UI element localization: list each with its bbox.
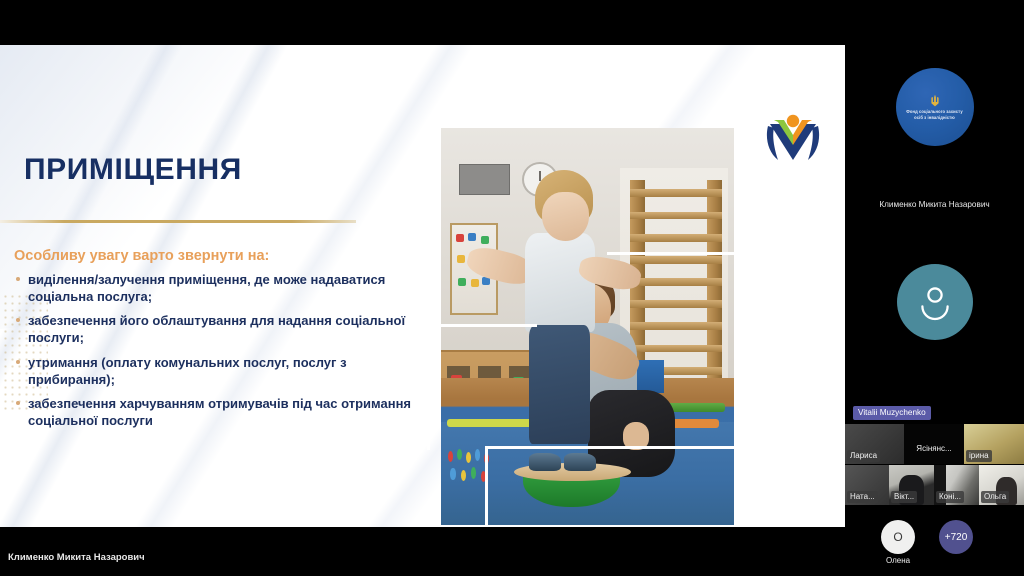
thumbnail-larysa[interactable]: Лариса bbox=[845, 424, 904, 464]
thumbnail-olha[interactable]: Ольга bbox=[979, 465, 1024, 505]
thumbnail-row-1: Лариса Ясінянс... ірина bbox=[845, 424, 1024, 464]
collage-frame-line-left-h bbox=[427, 324, 537, 327]
org-avatar-text-line2: осіб з інвалідністю bbox=[899, 115, 971, 121]
participants-sidebar[interactable]: Фонд соціального захисту осіб з інвалідн… bbox=[845, 0, 1024, 576]
photo-child-shoe-right bbox=[564, 453, 596, 471]
photo-child-shirt bbox=[525, 233, 595, 332]
collage-frame-line-bottom-h bbox=[485, 446, 737, 449]
slide-bullet-list: виділення/залучення приміщення, де може … bbox=[14, 271, 414, 436]
photo-abacus-toy bbox=[444, 442, 508, 494]
slide-title: ПРИМІЩЕННЯ bbox=[24, 153, 242, 187]
list-item: утримання (оплату комунальних послуг, по… bbox=[14, 354, 414, 388]
more-participants-badge[interactable]: +720 bbox=[939, 520, 973, 554]
thumbnail-label: Вікт... bbox=[891, 491, 917, 503]
photo-child-shoe-left bbox=[529, 453, 561, 471]
more-participants-count: +720 bbox=[945, 532, 968, 543]
participant-tile-klymenko[interactable]: Фонд соціального захисту осіб з інвалідн… bbox=[845, 40, 1024, 220]
thumbnail-label: Коні... bbox=[936, 491, 964, 503]
thumbnail-nata[interactable]: Ната... bbox=[845, 465, 889, 505]
photo-vent bbox=[459, 164, 511, 196]
avatar-olena[interactable]: О bbox=[881, 520, 915, 554]
thumbnail-label: Ясінянс... bbox=[913, 443, 954, 455]
thumbnail-yasinyans[interactable]: Ясінянс... bbox=[904, 424, 964, 464]
thumbnail-koni[interactable]: Коні... bbox=[934, 465, 979, 505]
presentation-slide: ПРИМІЩЕННЯ Особливу увагу варто звернути… bbox=[0, 45, 845, 527]
photo-child-face bbox=[542, 192, 589, 242]
thumbnail-vikt[interactable]: Вікт... bbox=[889, 465, 934, 505]
overflow-participants-row: О Олена +720 bbox=[845, 512, 1024, 576]
participant-tile-vitalii[interactable]: Vitalii Muzychenko bbox=[845, 248, 1024, 408]
trident-icon bbox=[930, 94, 940, 107]
collage-frame-line-bottom-v bbox=[485, 446, 488, 526]
thumbnail-iryna[interactable]: ірина bbox=[964, 424, 1024, 464]
video-conference-window: ПРИМІЩЕННЯ Особливу увагу варто звернути… bbox=[0, 0, 1024, 576]
avatar-olena-name: Олена bbox=[875, 556, 921, 565]
participant-thumbnail-grid[interactable]: Лариса Ясінянс... ірина Ната... Вікт... bbox=[845, 424, 1024, 505]
participant-name-klymenko: Клименко Микита Назарович bbox=[845, 200, 1024, 209]
thumbnail-label: Лариса bbox=[847, 450, 880, 462]
thumbnail-label: Ната... bbox=[847, 491, 878, 503]
fund-logo bbox=[760, 108, 826, 174]
presenter-name-overlay: Клименко Микита Назарович bbox=[8, 552, 145, 563]
photo-child-pants bbox=[529, 325, 591, 444]
avatar-initial: О bbox=[893, 530, 902, 544]
collage-frame-line-left-v bbox=[427, 324, 430, 450]
person-silhouette-icon bbox=[897, 264, 973, 340]
list-item: забезпечення харчуванням отримувачів під… bbox=[14, 395, 414, 429]
list-item: виділення/залучення приміщення, де може … bbox=[14, 271, 414, 305]
thumbnail-label: Ольга bbox=[981, 491, 1009, 503]
thumbnail-row-2: Ната... Вікт... Коні... Ольга bbox=[845, 465, 1024, 505]
slide-lead-text: Особливу увагу варто звернути на: bbox=[14, 248, 269, 264]
collage-frame-line-right-v bbox=[734, 252, 737, 508]
participant-name-badge-vitalii: Vitalii Muzychenko bbox=[853, 406, 931, 420]
thumbnail-label: ірина bbox=[966, 450, 992, 462]
title-underline-rule bbox=[0, 220, 356, 223]
shared-screen-stage[interactable]: ПРИМІЩЕННЯ Особливу увагу варто звернути… bbox=[0, 0, 845, 576]
collage-frame-line-right-h bbox=[607, 252, 737, 255]
org-avatar: Фонд соціального захисту осіб з інвалідн… bbox=[896, 68, 974, 146]
slide-photo-collage bbox=[441, 128, 734, 525]
list-item: забезпечення його облаштування для надан… bbox=[14, 312, 414, 346]
